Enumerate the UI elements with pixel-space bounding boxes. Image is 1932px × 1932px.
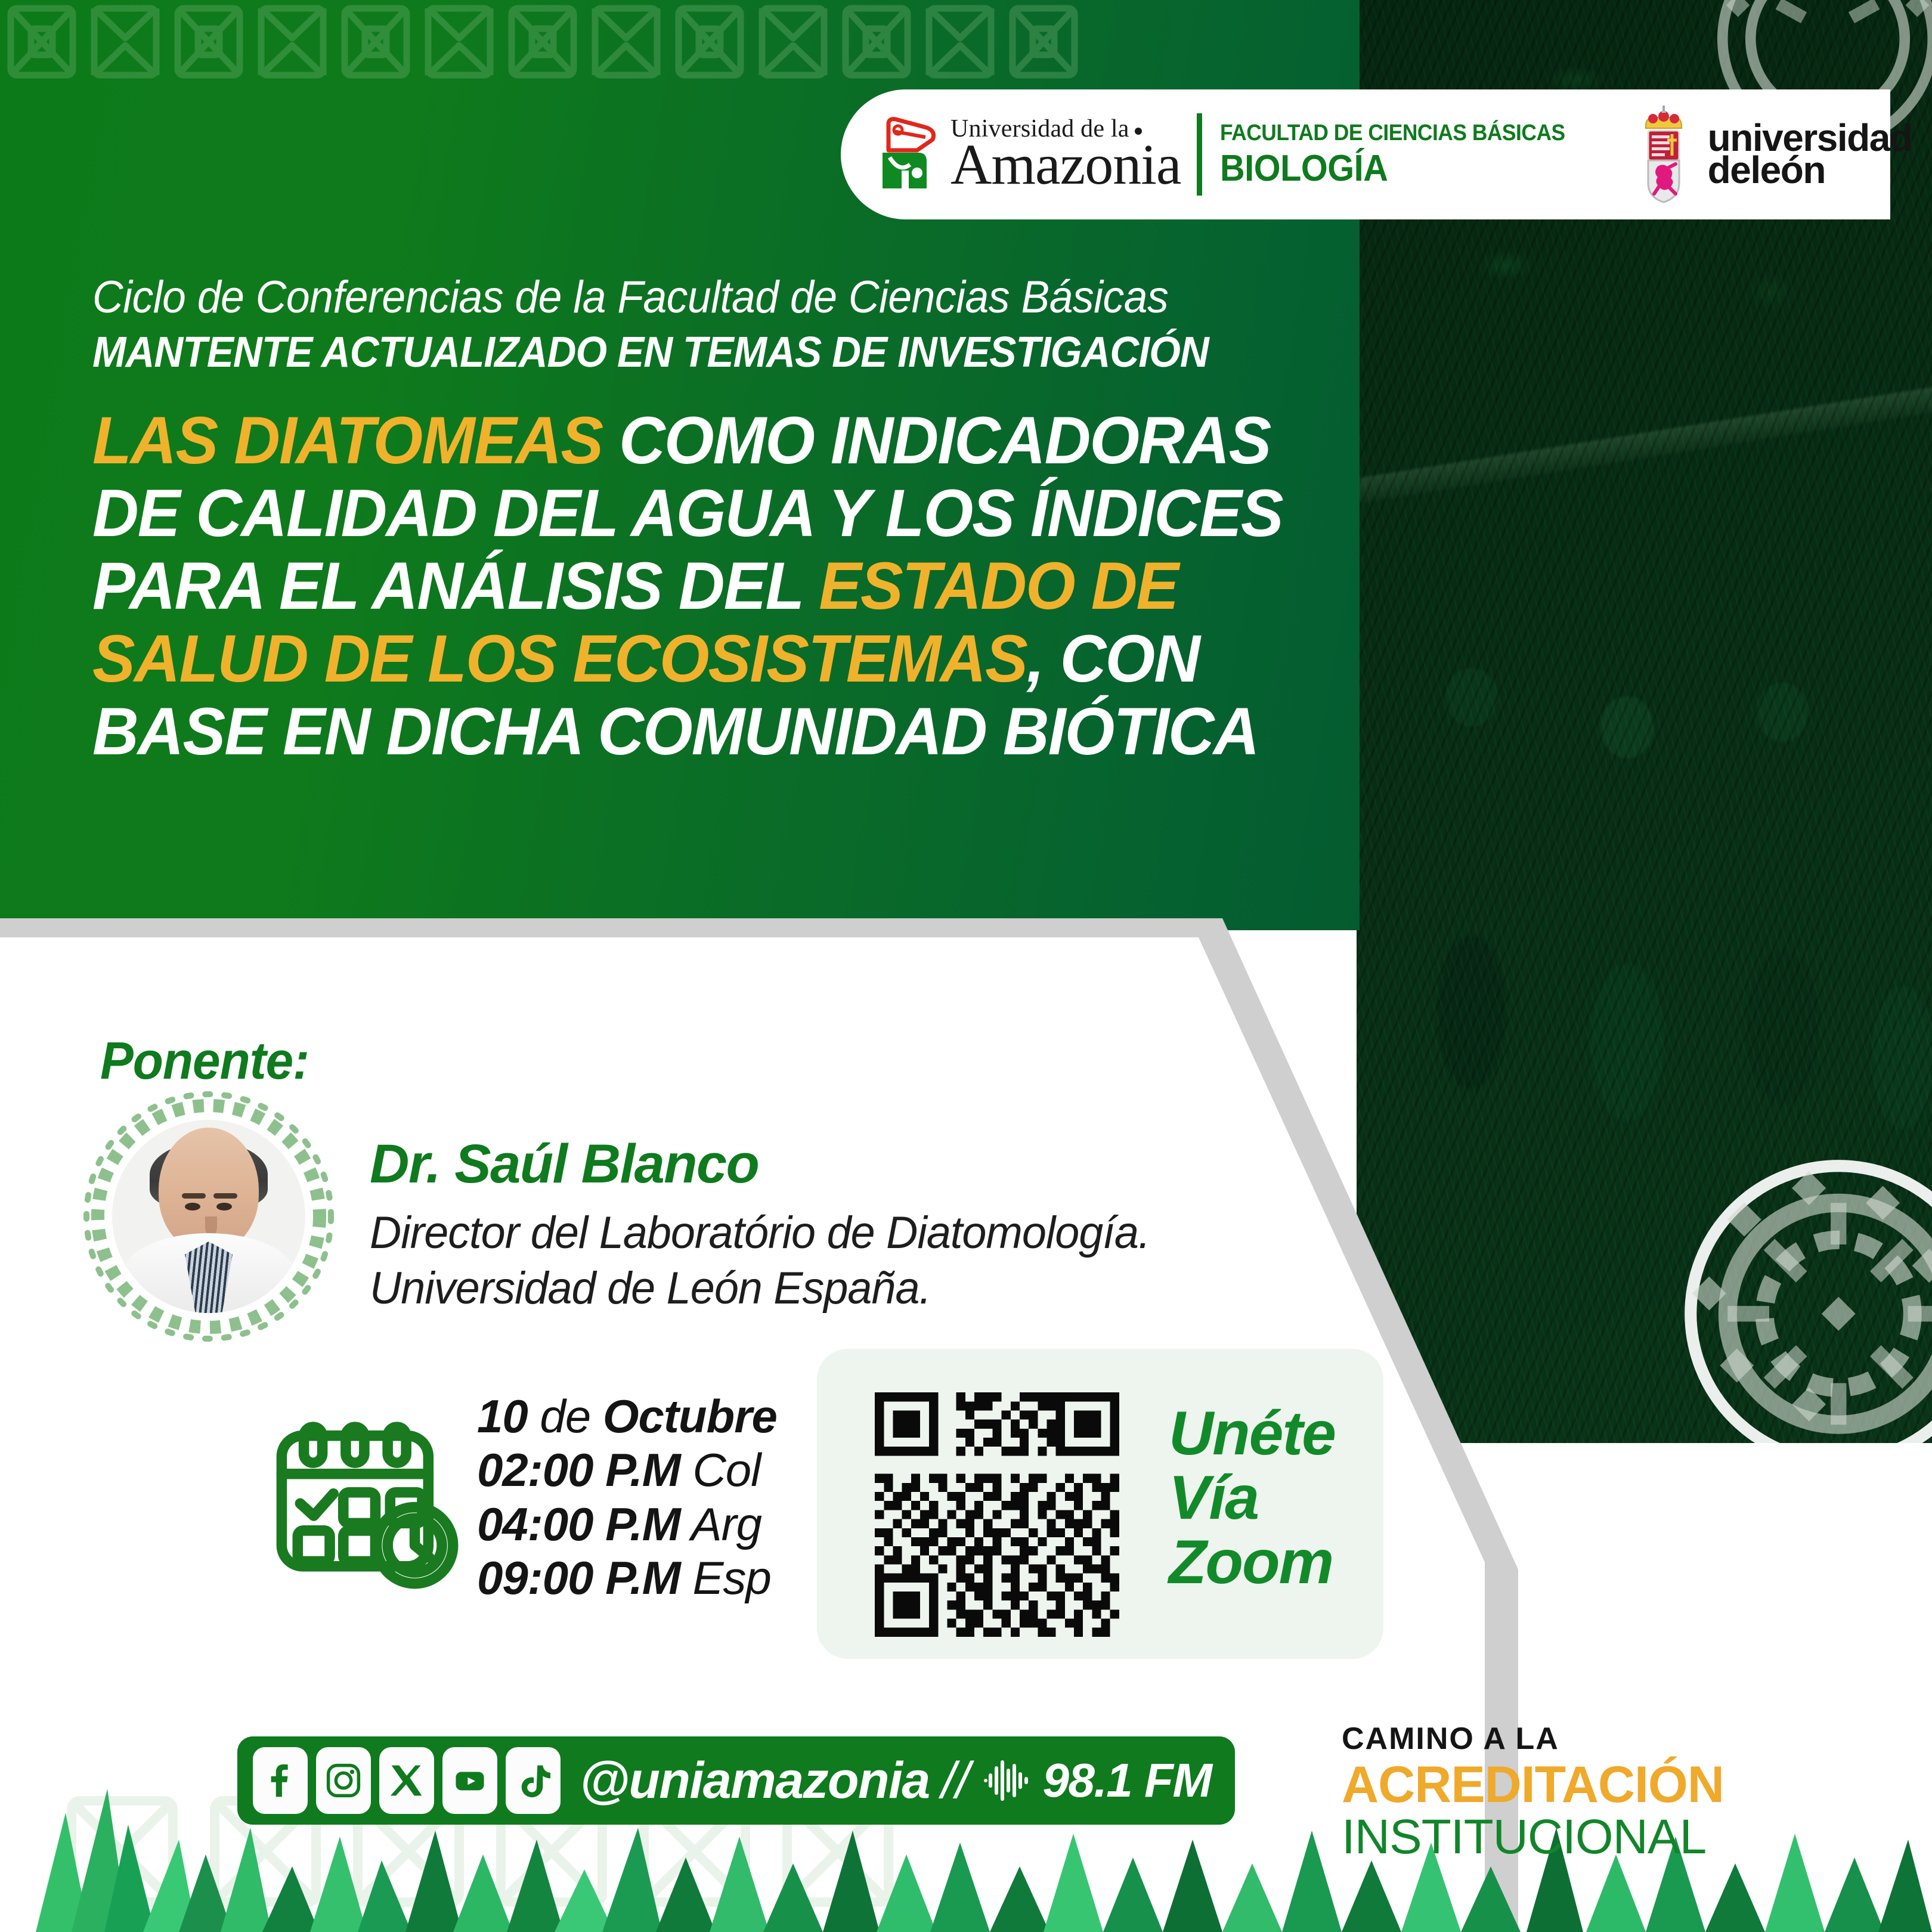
- university-wordmark: Universidad de la Amazonia: [950, 117, 1181, 192]
- headline-block: Ciclo de Conferencias de la Facultad de …: [92, 271, 1351, 768]
- faculty-block: FACULTAD DE CIENCIAS BÁSICAS BIOLOGÍA: [1220, 122, 1591, 187]
- accreditation-badge: CAMINO A LA ACREDITACIÓN INSTITUCIONAL: [1342, 1723, 1724, 1862]
- radio-frequency: 98.1 FM: [1043, 1753, 1212, 1808]
- tiktok-icon[interactable]: [506, 1747, 561, 1814]
- accreditation-line-1: CAMINO A LA: [1342, 1723, 1724, 1754]
- facebook-icon[interactable]: [253, 1747, 308, 1814]
- join-line-3: Zoom: [1169, 1530, 1335, 1594]
- speaker-name: Dr. Saúl Blanco: [370, 1133, 758, 1196]
- join-line-2: Vía: [1169, 1466, 1335, 1530]
- speaker-label: Ponente:: [100, 1030, 309, 1091]
- x-twitter-icon[interactable]: [379, 1747, 434, 1814]
- event-schedule: 10 de Octubre 02:00 P.M Col 04:00 P.M Ar…: [477, 1389, 777, 1605]
- faculty-name: FACULTAD DE CIENCIAS BÁSICAS: [1220, 122, 1565, 145]
- social-media-bar: @uniamazonia // 98.1 FM: [237, 1736, 1235, 1825]
- leon-line-2: deleón: [1708, 154, 1912, 187]
- join-via-zoom-label: Unéte Vía Zoom: [1169, 1401, 1335, 1594]
- universidad-leon-logo: universidad deleón: [1633, 104, 1912, 205]
- conference-poster: Ciclo de Conferencias de la Facultad de …: [0, 0, 1932, 1932]
- speaker-avatar: [83, 1091, 334, 1342]
- separator-slashes: //: [942, 1751, 970, 1810]
- audio-wave-icon: [982, 1760, 1037, 1801]
- youtube-icon[interactable]: [442, 1747, 497, 1814]
- logo-divider: [1197, 113, 1202, 196]
- calendar-clock-icon: [274, 1405, 459, 1590]
- leon-wordmark: universidad deleón: [1708, 122, 1912, 187]
- universidad-amazonia-logo: Universidad de la Amazonia: [875, 113, 1181, 196]
- page-title: LAS DIATOMEAS COMO INDICADORAS DE CALIDA…: [92, 404, 1301, 768]
- series-line: Ciclo de Conferencias de la Facultad de …: [92, 271, 1275, 323]
- zoom-qr-code[interactable]: [857, 1383, 1137, 1646]
- indigenous-pattern-strip-icon: [0, 0, 1360, 83]
- speaker-portrait-photo: [112, 1120, 305, 1313]
- time-row-arg: 04:00 P.M Arg: [477, 1497, 777, 1551]
- accreditation-line-3: INSTITUCIONAL: [1342, 1813, 1724, 1862]
- speaker-role-line-2: Universidad de León España.: [370, 1261, 1150, 1317]
- program-name: BIOLOGÍA: [1220, 150, 1565, 187]
- portrait-brow-left: [182, 1193, 206, 1199]
- accreditation-line-2: ACREDITACIÓN: [1342, 1759, 1724, 1810]
- social-handle: @uniamazonia: [580, 1751, 930, 1810]
- leon-coat-of-arms-icon: [1633, 104, 1695, 205]
- university-line-2: Amazonia: [950, 137, 1181, 192]
- time-row-col: 02:00 P.M Col: [477, 1443, 777, 1497]
- join-line-1: Unéte: [1169, 1401, 1335, 1466]
- title-segment-highlight: LAS DIATOMEAS: [92, 403, 619, 478]
- portrait-brow-right: [213, 1193, 237, 1199]
- institution-logo-bar: Universidad de la Amazonia FACULTAD DE C…: [841, 89, 1890, 219]
- time-row-esp: 09:00 P.M Esp: [477, 1551, 777, 1605]
- toucan-logo-icon: [875, 113, 942, 196]
- speaker-role: Director del Laboratório de Diatomología…: [370, 1206, 1150, 1316]
- speaker-role-line-1: Director del Laboratório de Diatomología…: [370, 1206, 1150, 1261]
- series-subtitle: MANTENTE ACTUALIZADO EN TEMAS DE INVESTI…: [92, 328, 1275, 377]
- ornament-ring-bottom-icon: [1640, 1115, 1932, 1443]
- portrait-eye-left: [185, 1203, 200, 1210]
- instagram-icon[interactable]: [316, 1747, 371, 1814]
- event-date: 10 de Octubre: [477, 1389, 777, 1443]
